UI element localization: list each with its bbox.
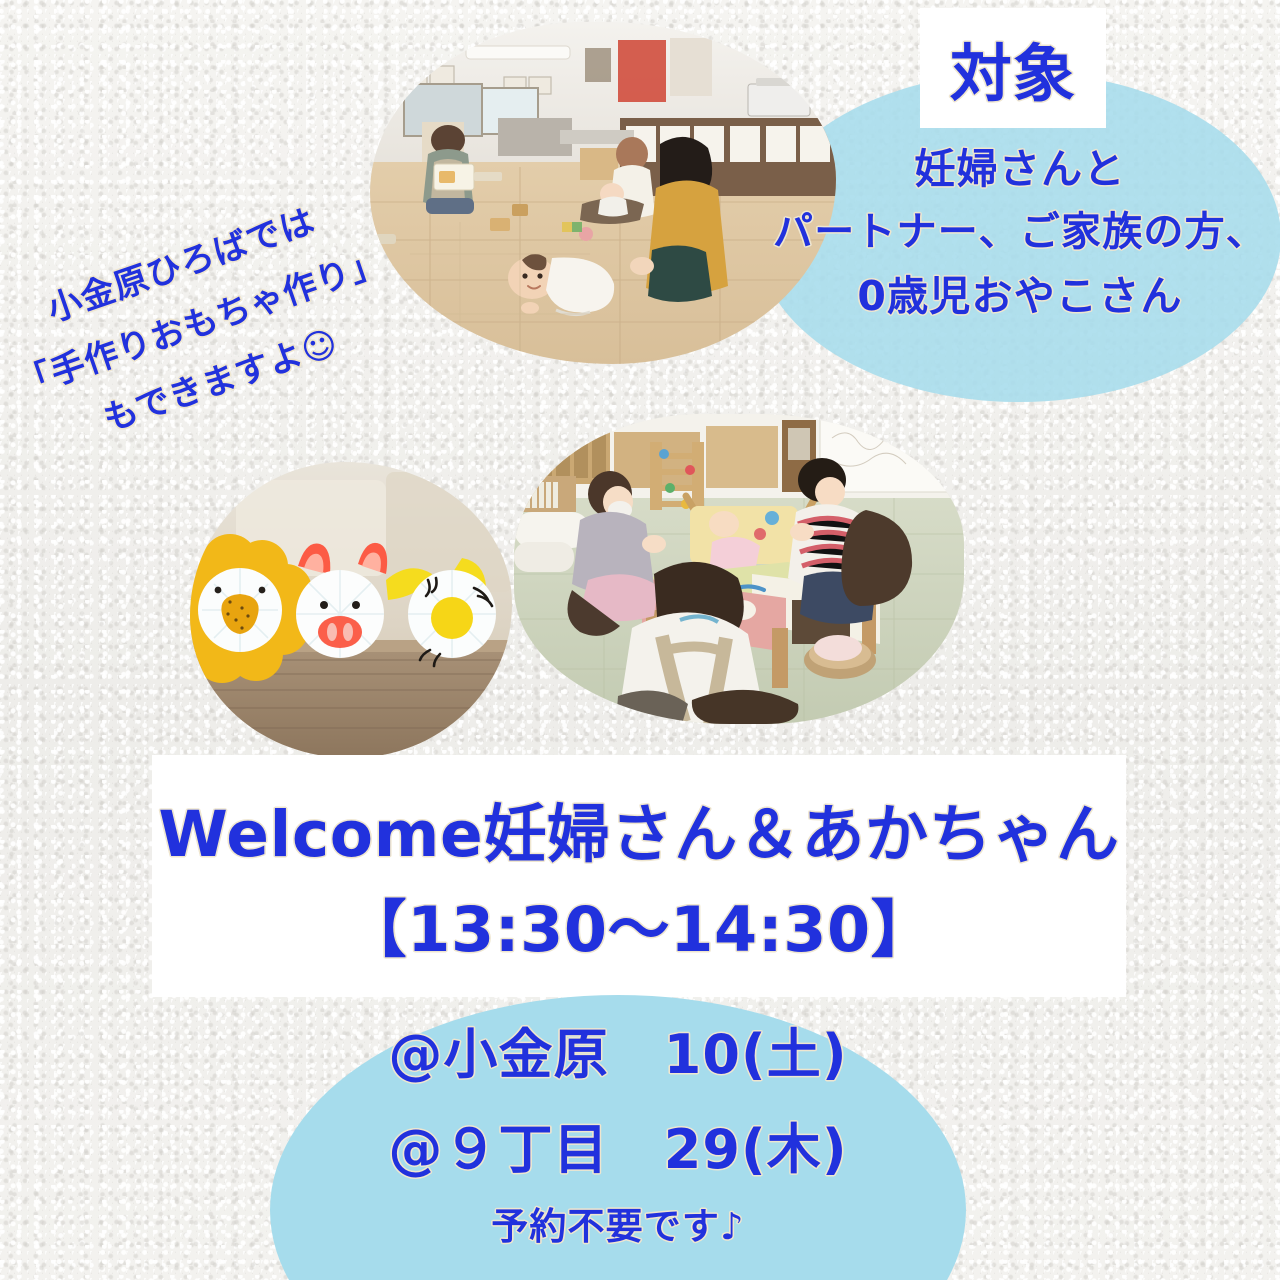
photo-tatami-room (514, 414, 964, 724)
event-time: 【13:30〜14:30】 (345, 879, 934, 969)
reservation-note: 予約不要です♪ (491, 1205, 744, 1248)
target-line-2: パートナー、ご家族の方、 (773, 204, 1267, 261)
schedule-row-2: @９丁目 29(木) (388, 1105, 847, 1184)
event-title: Welcome妊婦さん＆あかちゃん (158, 784, 1119, 875)
schedule-row-1: @小金原 10(土) (388, 1010, 847, 1089)
target-line-3: 0歳児おやこさん (857, 267, 1182, 325)
reservation-note-wrap: 予約不要です♪ (270, 1196, 966, 1250)
poster-canvas: 対象 妊婦さんと パートナー、ご家族の方、 0歳児おやこさん 小金原ひろばでは … (0, 0, 1280, 1280)
photo-felt-toys (190, 462, 512, 758)
title-banner: Welcome妊婦さん＆あかちゃん 【13:30〜14:30】 (152, 755, 1126, 997)
target-audience-label: 対象 (950, 23, 1076, 113)
felt-toys-illustration (190, 462, 512, 758)
tatami-room-illustration (514, 414, 964, 724)
target-audience-label-box: 対象 (920, 8, 1106, 128)
target-line-1: 妊婦さんと (914, 140, 1125, 198)
target-audience-text: 妊婦さんと パートナー、ご家族の方、 0歳児おやこさん (742, 140, 1280, 390)
